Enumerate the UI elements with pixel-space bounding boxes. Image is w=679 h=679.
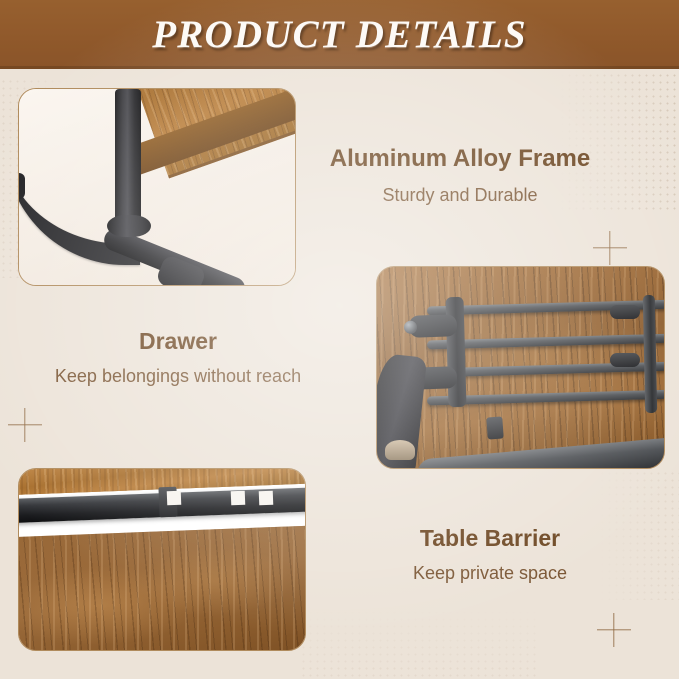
dot-texture-bottom [300, 609, 540, 679]
page-title: PRODUCT DETAILS [152, 12, 526, 57]
barrier-photo [377, 267, 664, 468]
frame-leg-collar [107, 215, 151, 237]
frame-photo-panel [18, 88, 296, 286]
callout-drawer: Drawer Keep belongings without reach [28, 328, 328, 388]
callout-aluminum-alloy-frame: Aluminum Alloy Frame Sturdy and Durable [310, 145, 610, 206]
plus-decoration-icon [597, 613, 631, 647]
callout-subtitle: Keep private space [340, 563, 640, 585]
barrier-eyelet-lower [610, 353, 640, 367]
callout-subtitle: Keep belongings without reach [28, 366, 328, 388]
frame-left-foot [19, 173, 25, 199]
plus-decoration-icon [8, 408, 42, 442]
barrier-hinge [385, 440, 415, 460]
product-details-page: PRODUCT DETAILS Aluminum Alloy Frame Stu… [0, 0, 679, 679]
drawer-photo-panel [18, 468, 306, 651]
barrier-vertical-bracket [445, 297, 466, 407]
drawer-rail-notch [259, 491, 274, 506]
barrier-photo-panel [376, 266, 665, 469]
callout-title: Drawer [28, 328, 328, 354]
barrier-right-post [643, 295, 657, 413]
frame-vertical-leg-post [115, 89, 141, 229]
callout-title: Aluminum Alloy Frame [310, 145, 610, 173]
drawer-rail-notch [231, 491, 246, 506]
barrier-clamp-knob [404, 321, 417, 334]
plus-decoration-icon [593, 231, 627, 265]
frame-photo [19, 89, 295, 285]
drawer-photo [19, 469, 305, 650]
barrier-mount-tab [486, 416, 503, 439]
drawer-front-panel [19, 525, 305, 650]
barrier-eyelet-upper [610, 305, 640, 319]
callout-subtitle: Sturdy and Durable [310, 185, 610, 207]
drawer-rail-notch [167, 491, 182, 506]
callout-table-barrier: Table Barrier Keep private space [340, 525, 640, 585]
callout-title: Table Barrier [340, 525, 640, 551]
header-banner: PRODUCT DETAILS [0, 0, 679, 69]
barrier-clamp-upper [409, 314, 458, 338]
